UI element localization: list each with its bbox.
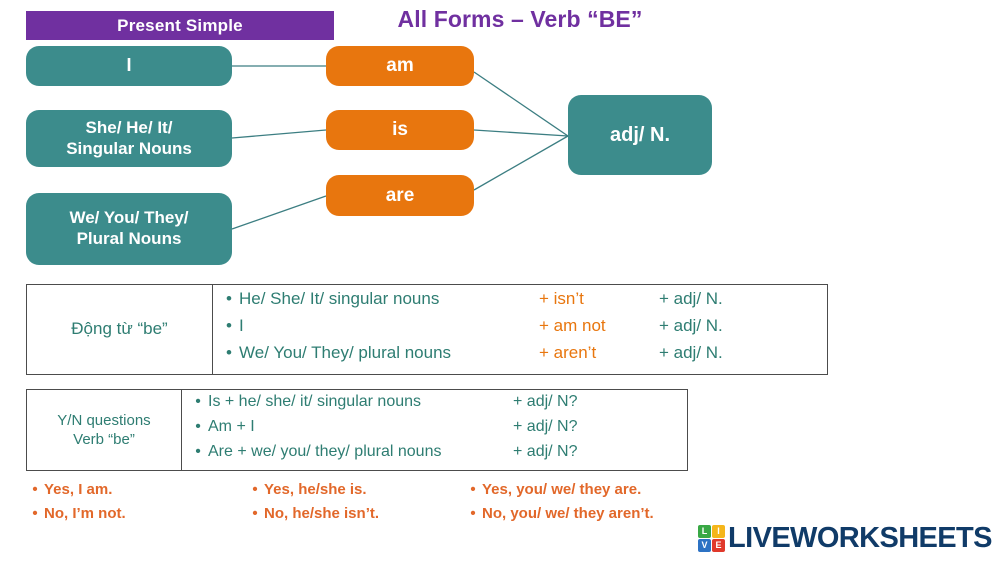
logo-tile-i: I: [712, 525, 725, 538]
cell-verb: + isn’t: [539, 289, 659, 309]
list-item: • No, I’m not.: [26, 505, 246, 529]
cell-subject: I: [239, 316, 539, 336]
table-be-label: Động từ “be”: [27, 285, 213, 374]
node-label: are: [386, 184, 415, 207]
logo-tile-e: E: [712, 539, 725, 552]
table-row: • He/ She/ It/ singular nouns + isn’t + …: [219, 289, 827, 316]
answer-no: No, he/she isn’t.: [264, 505, 379, 522]
diagram-node-verb-am: am: [326, 46, 474, 86]
list-item: • Yes, I am.: [26, 481, 246, 505]
bullet-icon: •: [464, 481, 482, 498]
logo-tiles-icon: L I V E: [698, 525, 725, 552]
logo-wordmark: LIVEWORKSHEETS: [728, 524, 992, 553]
page-title: All Forms – Verb “BE”: [355, 6, 685, 33]
cell-verb: + aren’t: [539, 343, 659, 363]
table-row: • I + am not + adj/ N.: [219, 316, 827, 343]
short-answers-column-he-she: • Yes, he/she is. • No, he/she isn’t.: [246, 481, 464, 529]
node-label: I: [126, 55, 131, 77]
answer-no: No, I’m not.: [44, 505, 126, 522]
node-label: is: [392, 118, 408, 141]
table-be-rows: • He/ She/ It/ singular nouns + isn’t + …: [213, 285, 827, 374]
bullet-icon: •: [26, 505, 44, 522]
list-item: • Yes, he/she is.: [246, 481, 464, 505]
table-row: • Am + I + adj/ N?: [188, 418, 687, 443]
bullet-icon: •: [188, 418, 208, 436]
cell-question: Are + we/ you/ they/ plural nouns: [208, 443, 513, 461]
list-item: • Yes, you/ we/ they are.: [464, 481, 726, 505]
short-answers-column-you-we-they: • Yes, you/ we/ they are. • No, you/ we/…: [464, 481, 726, 529]
answer-yes: Yes, you/ we/ they are.: [482, 481, 641, 498]
cell-subject: We/ You/ They/ plural nouns: [239, 343, 539, 363]
diagram-node-verb-are: are: [326, 175, 474, 216]
node-label: She/ He/ It/Singular Nouns: [66, 118, 192, 159]
bullet-icon: •: [26, 481, 44, 498]
short-answers-section: • Yes, I am. • No, I’m not. • Yes, he/sh…: [26, 481, 726, 529]
diagram-node-complement-adj-n: adj/ N.: [568, 95, 712, 175]
diagram-node-subject-we-you-they: We/ You/ They/Plural Nouns: [26, 193, 232, 265]
short-answers-column-i: • Yes, I am. • No, I’m not.: [26, 481, 246, 529]
answer-yes: Yes, he/she is.: [264, 481, 367, 498]
node-label: am: [386, 54, 413, 77]
answer-yes: Yes, I am.: [44, 481, 112, 498]
diagram-node-verb-is: is: [326, 110, 474, 150]
table-row: • Are + we/ you/ they/ plural nouns + ad…: [188, 443, 687, 468]
cell-complement: + adj/ N?: [513, 443, 577, 461]
diagram-node-subject-she-he-it: She/ He/ It/Singular Nouns: [26, 110, 232, 167]
bullet-icon: •: [246, 505, 264, 522]
bullet-icon: •: [219, 343, 239, 363]
bullet-icon: •: [464, 505, 482, 522]
list-item: • No, you/ we/ they aren’t.: [464, 505, 726, 529]
table-yes-no-questions: Y/N questionsVerb “be” • Is + he/ she/ i…: [26, 389, 688, 471]
diagram-node-subject-i: I: [26, 46, 232, 86]
answer-no: No, you/ we/ they aren’t.: [482, 505, 654, 522]
list-item: • No, he/she isn’t.: [246, 505, 464, 529]
table-negative-forms: Động từ “be” • He/ She/ It/ singular nou…: [26, 284, 828, 375]
cell-complement: + adj/ N.: [659, 316, 723, 336]
table-row: • We/ You/ They/ plural nouns + aren’t +…: [219, 343, 827, 370]
table-yn-label: Y/N questionsVerb “be”: [27, 390, 182, 470]
cell-subject: He/ She/ It/ singular nouns: [239, 289, 539, 309]
node-label: adj/ N.: [610, 123, 670, 147]
cell-complement: + adj/ N?: [513, 393, 577, 411]
bullet-icon: •: [246, 481, 264, 498]
bullet-icon: •: [219, 316, 239, 336]
cell-verb: + am not: [539, 316, 659, 336]
logo-tile-l: L: [698, 525, 711, 538]
table-yn-rows: • Is + he/ she/ it/ singular nouns + adj…: [182, 390, 687, 470]
bullet-icon: •: [188, 443, 208, 461]
cell-complement: + adj/ N?: [513, 418, 577, 436]
node-label: We/ You/ They/Plural Nouns: [69, 208, 188, 249]
cell-complement: + adj/ N.: [659, 343, 723, 363]
present-simple-banner: Present Simple: [26, 11, 334, 40]
liveworksheets-logo: L I V E LIVEWORKSHEETS: [698, 518, 992, 558]
bullet-icon: •: [219, 289, 239, 309]
worksheet-canvas: All Forms – Verb “BE” Present Simple I S…: [0, 0, 1000, 562]
cell-question: Is + he/ she/ it/ singular nouns: [208, 393, 513, 411]
table-row: • Is + he/ she/ it/ singular nouns + adj…: [188, 393, 687, 418]
logo-tile-v: V: [698, 539, 711, 552]
cell-complement: + adj/ N.: [659, 289, 723, 309]
bullet-icon: •: [188, 393, 208, 411]
cell-question: Am + I: [208, 418, 513, 436]
